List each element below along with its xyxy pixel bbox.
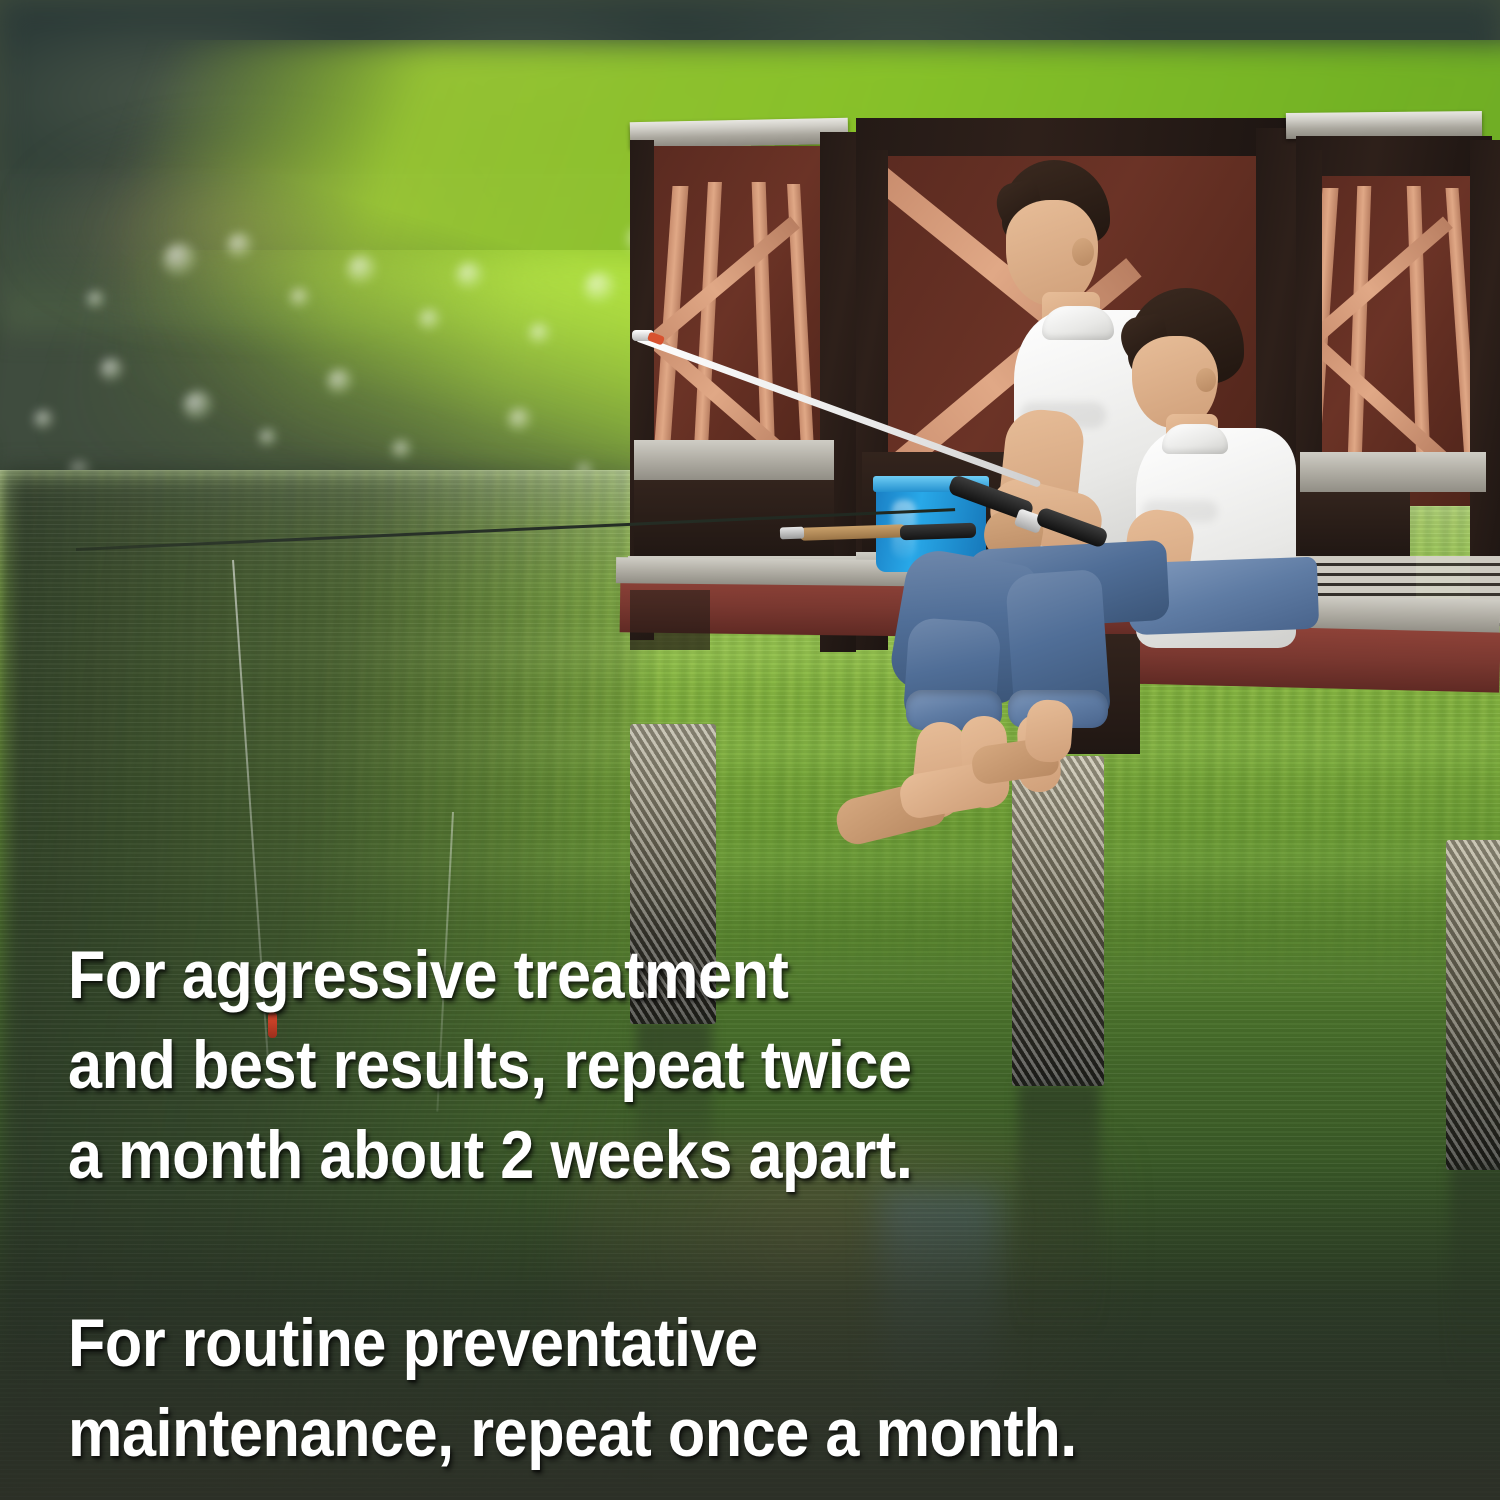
rod-rear-grip [900,523,976,541]
leg-shin-4 [1024,698,1074,763]
railing-top-rail-right [1296,136,1492,176]
instruction-text-overlay: For aggressive treatment and best result… [68,930,1398,1478]
under-deck-shadow-left [630,590,710,650]
piling-right-reflection [1450,1166,1500,1386]
boy-collar [1162,424,1228,454]
railing-midrail-left [634,440,834,480]
piling-right [1446,840,1500,1170]
instruction-line: and best results, repeat twice [68,1020,1265,1110]
instruction-line: a month about 2 weeks apart. [68,1110,1265,1200]
man-collar [1042,306,1114,340]
instruction-line: For routine preventative [68,1298,1265,1388]
instruction-image: For aggressive treatment and best result… [0,0,1500,1500]
rod-rear-ferrule [780,527,804,540]
instruction-block-aggressive: For aggressive treatment and best result… [68,930,1398,1200]
instruction-block-routine: For routine preventative maintenance, re… [68,1298,1398,1478]
man-ear [1072,238,1094,266]
instruction-line: maintenance, repeat once a month. [68,1388,1265,1478]
boy-ear [1196,368,1216,392]
post-right-inner [1470,140,1500,620]
instruction-line: For aggressive treatment [68,930,1265,1020]
railing-cap-left [630,118,848,149]
railing-cap-right [1286,111,1482,139]
block-spacer [68,1200,1398,1298]
railing-top-rail-center [856,118,1296,158]
